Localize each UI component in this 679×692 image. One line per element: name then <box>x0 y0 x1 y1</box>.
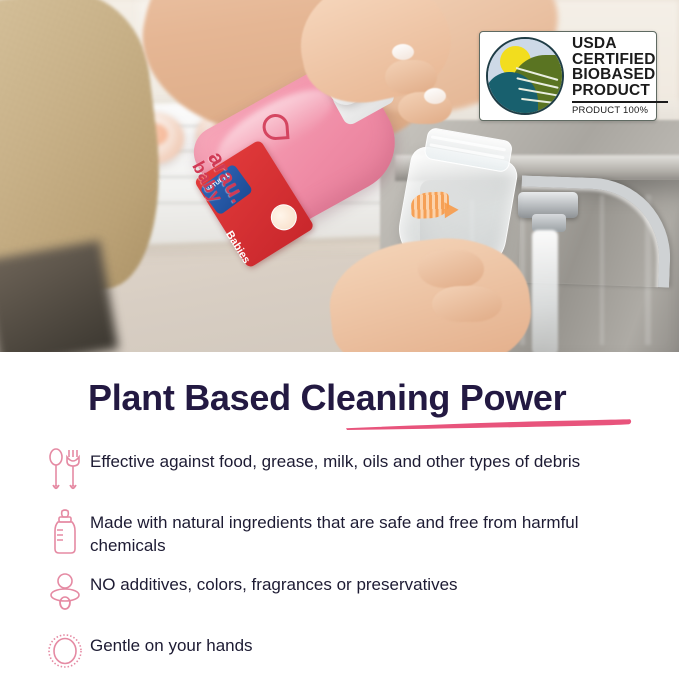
badge-divider <box>572 101 668 103</box>
badge-line-4: PRODUCT <box>572 83 668 99</box>
baby-bottle-icon <box>42 508 88 556</box>
list-item: Made with natural ingredients that are s… <box>42 508 642 557</box>
swirl-icon <box>262 113 290 141</box>
running-water <box>532 230 558 352</box>
gentle-hands-circle-icon <box>42 631 88 679</box>
list-item-label: Gentle on your hands <box>90 631 253 657</box>
list-item-label: Effective against food, grease, milk, oi… <box>90 447 580 473</box>
features-section: Plant Based Cleaning Power <box>0 352 679 664</box>
feature-list: Effective against food, grease, milk, oi… <box>42 447 642 692</box>
hero-photo: NATURAL Babies arau. baby <box>0 0 679 352</box>
badge-line-1: USDA <box>572 36 668 52</box>
baby-face-icon <box>266 199 302 235</box>
list-item: NO additives, colors, fragrances or pres… <box>42 570 642 618</box>
badge-subtext: PRODUCT 100% <box>572 105 668 116</box>
pacifier-icon <box>42 570 88 618</box>
fish-tail-icon <box>444 202 459 218</box>
brush-underline <box>345 418 632 431</box>
cloth-shadow <box>0 240 119 352</box>
list-item: Effective against food, grease, milk, oi… <box>42 447 642 495</box>
badge-line-3: BIOBASED <box>572 67 668 83</box>
list-item-label: NO additives, colors, fragrances or pres… <box>90 570 458 596</box>
badge-line-2: CERTIFIED <box>572 52 668 68</box>
list-item-label: Made with natural ingredients that are s… <box>90 508 610 557</box>
usda-biobased-badge: USDA CERTIFIED BIOBASED PRODUCT PRODUCT … <box>479 31 657 121</box>
product-feature-page: NATURAL Babies arau. baby <box>0 0 679 664</box>
spoon-and-fork-icon <box>42 447 88 495</box>
list-item: Gentle on your hands <box>42 631 642 679</box>
usda-biobased-logo-icon <box>486 37 564 115</box>
page-title: Plant Based Cleaning Power <box>88 377 566 419</box>
